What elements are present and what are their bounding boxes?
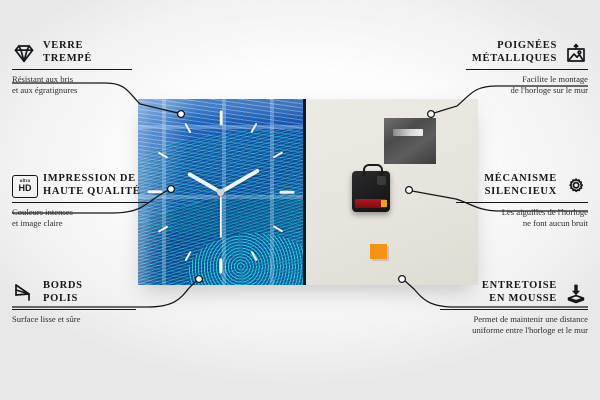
- callout-description: Résistant aux briset aux égratignures: [12, 74, 132, 95]
- hd-icon-main-label: HD: [19, 184, 32, 193]
- callout-title-row: BORDSPOLIS: [12, 280, 136, 305]
- callout-entretoise-en-mousse[interactable]: ENTRETOISEEN MOUSSE Permet de maintenir …: [440, 280, 588, 335]
- hanger-slot: [393, 129, 423, 136]
- hour-marker: [279, 191, 294, 194]
- callout-title-row: MÉCANISMESILENCIEUX: [456, 173, 588, 198]
- callout-description: Facilite le montagede l'horloge sur le m…: [466, 74, 588, 95]
- second-hand: [220, 192, 222, 238]
- hour-marker: [219, 110, 222, 125]
- ultra-hd-icon: ultra HD: [12, 175, 36, 197]
- clock-face: [138, 99, 306, 285]
- callout-title-row: VERRETREMPÉ: [12, 40, 132, 65]
- polished-edge-icon: [12, 282, 36, 304]
- callout-verre-trempe[interactable]: VERRETREMPÉ Résistant aux briset aux égr…: [12, 40, 132, 95]
- callout-mecanisme-silencieux[interactable]: MÉCANISMESILENCIEUX Les aiguilles de l'h…: [456, 173, 588, 228]
- callout-title-row: POIGNÉESMÉTALLIQUES: [466, 40, 588, 65]
- callout-title: IMPRESSION DEHAUTE QUALITÉ: [43, 173, 141, 198]
- divider: [12, 202, 148, 203]
- callout-title: BORDSPOLIS: [43, 280, 83, 305]
- diamond-icon: [12, 42, 36, 64]
- metal-hanger-plate: [384, 118, 436, 164]
- divider: [440, 309, 588, 310]
- divider: [466, 69, 588, 70]
- callout-title: MÉCANISMESILENCIEUX: [484, 173, 557, 198]
- foam-spacer: [370, 244, 387, 259]
- hanging-frame-icon: [564, 42, 588, 64]
- callout-description: Permet de maintenir une distanceuniforme…: [440, 314, 588, 335]
- infographic-canvas: VERRETREMPÉ Résistant aux briset aux égr…: [0, 0, 600, 400]
- product-photo: [138, 99, 478, 285]
- callout-title: ENTRETOISEEN MOUSSE: [482, 280, 557, 305]
- battery: [355, 199, 386, 208]
- callout-description: Couleurs intenseset image claire: [12, 207, 148, 228]
- callout-description: Surface lisse et sûre: [12, 314, 136, 325]
- callout-bords-polis[interactable]: BORDSPOLIS Surface lisse et sûre: [12, 280, 136, 325]
- press-layers-icon: [564, 282, 588, 304]
- divider: [456, 202, 588, 203]
- clock-back-panel: [306, 99, 478, 285]
- divider: [12, 69, 132, 70]
- hour-marker: [147, 191, 162, 194]
- callout-title: VERRETREMPÉ: [43, 40, 92, 65]
- gear-icon: [564, 175, 588, 197]
- callout-poignees-metalliques[interactable]: POIGNÉESMÉTALLIQUES Facilite le montaged…: [466, 40, 588, 95]
- callout-impression-haute-qualite[interactable]: ultra HD IMPRESSION DEHAUTE QUALITÉ Coul…: [12, 173, 148, 228]
- mechanism-dial: [377, 176, 386, 185]
- clock-hub: [217, 189, 224, 196]
- callout-title-row: ultra HD IMPRESSION DEHAUTE QUALITÉ: [12, 173, 148, 198]
- callout-description: Les aiguilles de l'horlogene font aucun …: [456, 207, 588, 228]
- hour-marker: [219, 259, 222, 274]
- mechanism-hook: [363, 164, 383, 176]
- callout-title: POIGNÉESMÉTALLIQUES: [472, 40, 557, 65]
- callout-title-row: ENTRETOISEEN MOUSSE: [440, 280, 588, 305]
- clock-mechanism: [352, 171, 390, 212]
- divider: [12, 309, 136, 310]
